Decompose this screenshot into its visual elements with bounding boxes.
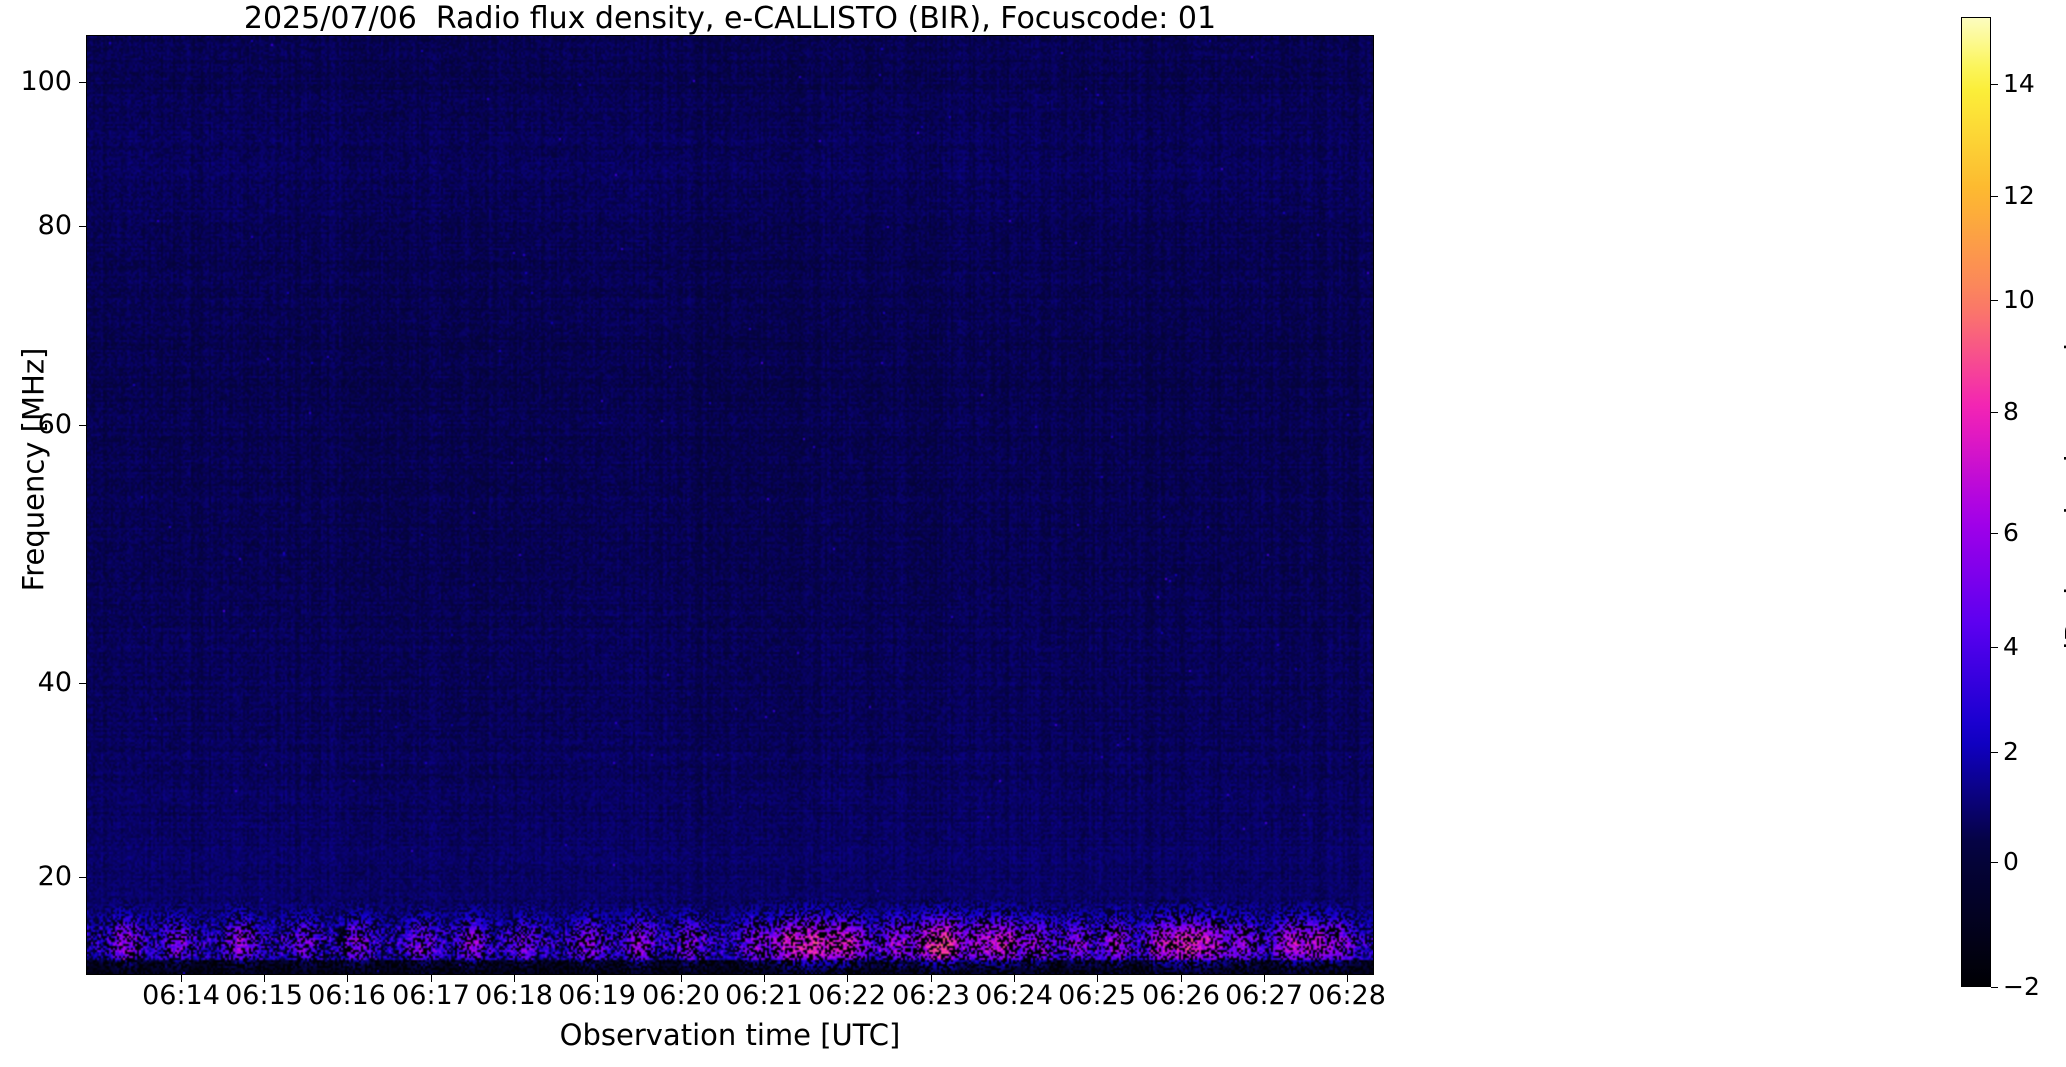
colorbar-tick-label: 8	[2003, 399, 2019, 424]
y-tick-mark	[79, 82, 86, 83]
spectrogram-figure: 2025/07/06 Radio flux density, e-CALLIST…	[0, 0, 2066, 1067]
colorbar-tick-mark	[1991, 300, 1998, 301]
colorbar-tick-label: 4	[2003, 634, 2019, 659]
y-tick-mark	[79, 425, 86, 426]
colorbar-tick-mark	[1991, 412, 1998, 413]
colorbar-tick-label: 0	[2003, 849, 2019, 874]
colorbar-tick-label: 2	[2003, 739, 2019, 764]
x-axis-label: Observation time [UTC]	[86, 1019, 1374, 1051]
spectrogram-axes	[86, 35, 1374, 975]
colorbar-tick-mark	[1991, 987, 1998, 988]
x-tick-label: 06:15	[225, 981, 303, 1010]
colorbar-tick-mark	[1991, 196, 1998, 197]
x-tick-label: 06:18	[475, 981, 553, 1010]
y-axis-label: Frequency [MHz]	[20, 260, 49, 680]
colorbar-tick-mark	[1991, 533, 1998, 534]
colorbar-tick-mark	[1991, 862, 1998, 863]
y-tick-label: 80	[0, 212, 72, 239]
page-title: 2025/07/06 Radio flux density, e-CALLIST…	[0, 2, 1460, 36]
x-tick-label: 06:26	[1142, 981, 1220, 1010]
colorbar-tick-label: −2	[2003, 974, 2040, 999]
colorbar	[1961, 17, 1991, 987]
x-tick-label: 06:19	[558, 981, 636, 1010]
colorbar-tick-label: 10	[2003, 287, 2035, 312]
x-tick-label: 06:28	[1308, 981, 1386, 1010]
y-tick-label: 100	[0, 68, 72, 95]
y-tick-mark	[79, 877, 86, 878]
x-tick-label: 06:22	[808, 981, 886, 1010]
colorbar-tick-label: 14	[2003, 71, 2035, 96]
colorbar-tick-mark	[1991, 84, 1998, 85]
x-tick-label: 06:17	[392, 981, 470, 1010]
colorbar-tick-mark	[1991, 752, 1998, 753]
x-tick-label: 06:20	[642, 981, 720, 1010]
y-tick-mark	[79, 683, 86, 684]
colorbar-tick-label: 12	[2003, 183, 2035, 208]
x-tick-label: 06:27	[1225, 981, 1303, 1010]
x-tick-label: 06:23	[892, 981, 970, 1010]
y-tick-label: 20	[0, 863, 72, 890]
y-tick-mark	[79, 226, 86, 227]
x-tick-label: 06:25	[1058, 981, 1136, 1010]
x-tick-label: 06:24	[975, 981, 1053, 1010]
colorbar-tick-label: 6	[2003, 520, 2019, 545]
spectrogram-image	[87, 36, 1373, 974]
x-tick-label: 06:21	[725, 981, 803, 1010]
colorbar-label: dB above background	[2063, 292, 2066, 712]
colorbar-gradient	[1962, 18, 1990, 986]
x-tick-label: 06:16	[308, 981, 386, 1010]
x-tick-label: 06:14	[142, 981, 220, 1010]
colorbar-tick-mark	[1991, 647, 1998, 648]
